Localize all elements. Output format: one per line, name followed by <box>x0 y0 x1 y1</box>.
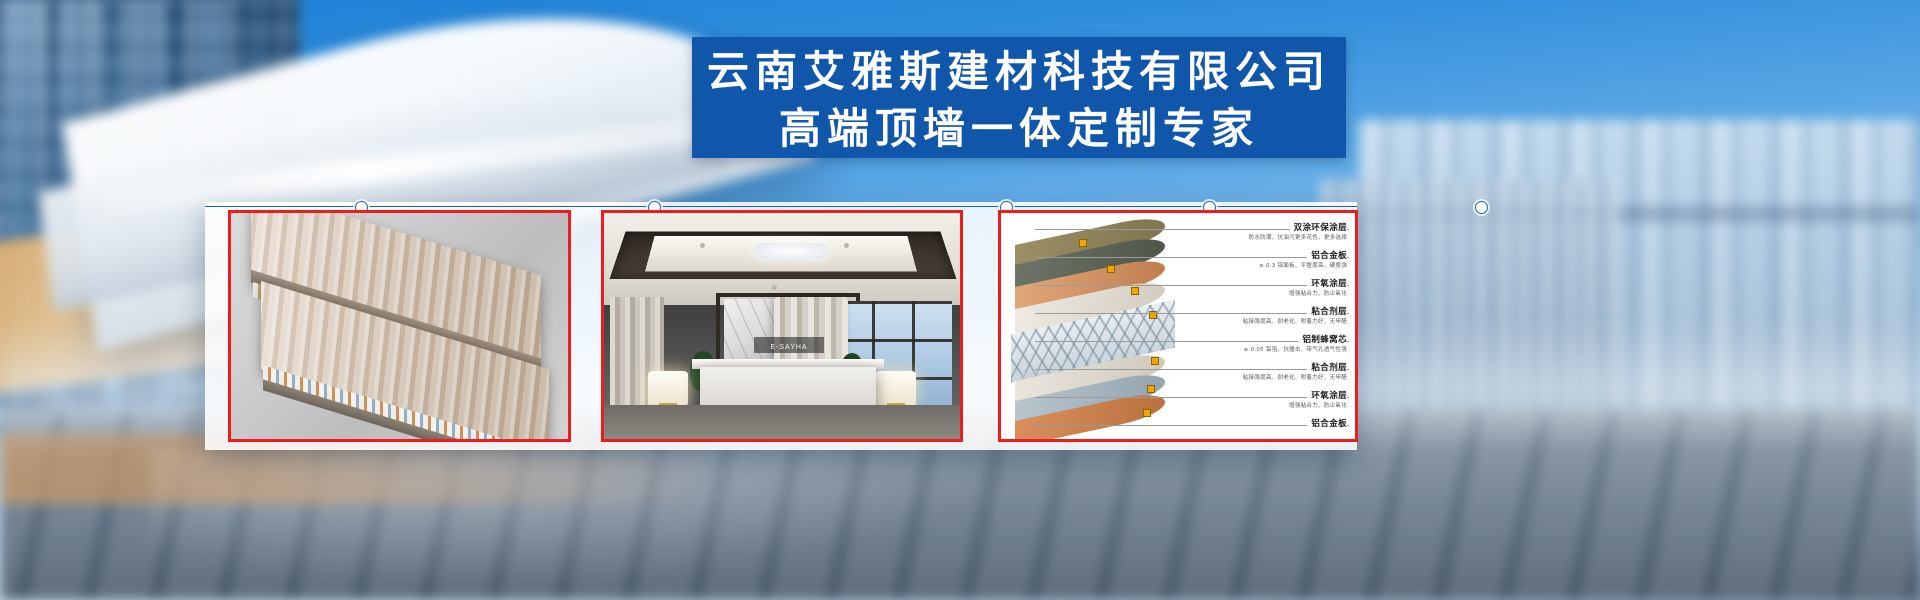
callout-title: 环氧涂层 <box>1307 277 1347 289</box>
leader-line <box>1035 369 1349 370</box>
table-lamp-right <box>876 371 916 405</box>
ceiling-light <box>754 243 828 259</box>
company-slogan: 高端顶墙一体定制专家 <box>692 101 1346 157</box>
downlight-icon <box>844 243 849 248</box>
plaza-reflection <box>150 450 1050 600</box>
title-plate: 云南艾雅斯建材科技有限公司 高端顶墙一体定制专家 <box>692 37 1346 158</box>
floor-plane <box>604 405 960 439</box>
banner-stage: 云南艾雅斯建材科技有限公司 高端顶墙一体定制专家 <box>0 0 1920 600</box>
callout-title: 双涂环保涂层 <box>1290 221 1347 233</box>
callout-title: 粘合剂层 <box>1307 361 1347 373</box>
callout-desc: 增强粘合力、防止氧化 <box>1289 401 1347 409</box>
downlight-icon <box>772 285 777 290</box>
callout-item: 环氧涂层 增强粘合力、防止氧化 <box>1153 277 1349 305</box>
leader-line <box>1035 425 1349 426</box>
callout-desc: 防水防潮、抗油污更多花色、更多选择 <box>1249 233 1348 241</box>
callout-node <box>1131 287 1139 295</box>
callout-item: 粘合剂层 粘接强度高、耐老化、附着力好、无甲醛 <box>1153 361 1349 389</box>
downlight-icon <box>700 243 705 248</box>
product-card-honeycomb-panel[interactable] <box>228 210 571 442</box>
callout-desc: ≥ 0.05 铝箔、抗撞击、带气孔透气性强 <box>1244 345 1347 353</box>
callout-title: 铝合金板 <box>1307 249 1347 261</box>
callout-desc: 粘接强度高、耐老化、附着力好、无甲醛 <box>1243 317 1347 325</box>
callout-desc: 增强粘合力、防止氧化 <box>1289 289 1347 297</box>
leader-line <box>1035 285 1349 286</box>
company-name: 云南艾雅斯建材科技有限公司 <box>692 37 1346 101</box>
callout-desc: ≥ 0.3 铝面板、平整度高、硬度强 <box>1259 261 1347 269</box>
callout-item: 铝合金板 <box>1153 417 1349 442</box>
brand-text: E-SAYHA <box>754 344 824 351</box>
callout-item: 双涂环保涂层 防水防潮、抗油污更多花色、更多选择 <box>1153 221 1349 249</box>
selection-handle[interactable] <box>1475 201 1488 214</box>
callout-title: 铝制蜂窝芯 <box>1298 333 1347 345</box>
callout-desc: 粘接强度高、耐老化、附着力好、无甲醛 <box>1243 373 1347 381</box>
product-card-interior-render[interactable]: E-SAYHA <box>601 210 963 442</box>
callout-title: 粘合剂层 <box>1307 305 1347 317</box>
callout-title: 铝合金板 <box>1307 417 1347 429</box>
callout-item: 环氧涂层 增强粘合力、防止氧化 <box>1153 389 1349 417</box>
callout-item: 铝制蜂窝芯 ≥ 0.05 铝箔、抗撞击、带气孔透气性强 <box>1153 333 1349 361</box>
callout-node <box>1143 409 1151 417</box>
table-lamp-left <box>648 371 688 405</box>
callout-title: 环氧涂层 <box>1307 389 1347 401</box>
product-card-layer-diagram[interactable]: 双涂环保涂层 防水防潮、抗油污更多花色、更多选择 铝合金板 ≥ 0.3 铝面板、… <box>998 210 1358 442</box>
leader-line <box>1035 257 1349 258</box>
diagram-callout-list: 双涂环保涂层 防水防潮、抗油污更多花色、更多选择 铝合金板 ≥ 0.3 铝面板、… <box>1153 221 1349 442</box>
leader-line <box>1035 397 1349 398</box>
leader-line <box>1035 313 1349 314</box>
callout-node <box>1107 265 1115 273</box>
selection-guide-line <box>205 206 1357 207</box>
callout-item: 铝合金板 ≥ 0.3 铝面板、平整度高、硬度强 <box>1153 249 1349 277</box>
callout-item: 粘合剂层 粘接强度高、耐老化、附着力好、无甲醛 <box>1153 305 1349 333</box>
callout-node <box>1079 239 1087 247</box>
